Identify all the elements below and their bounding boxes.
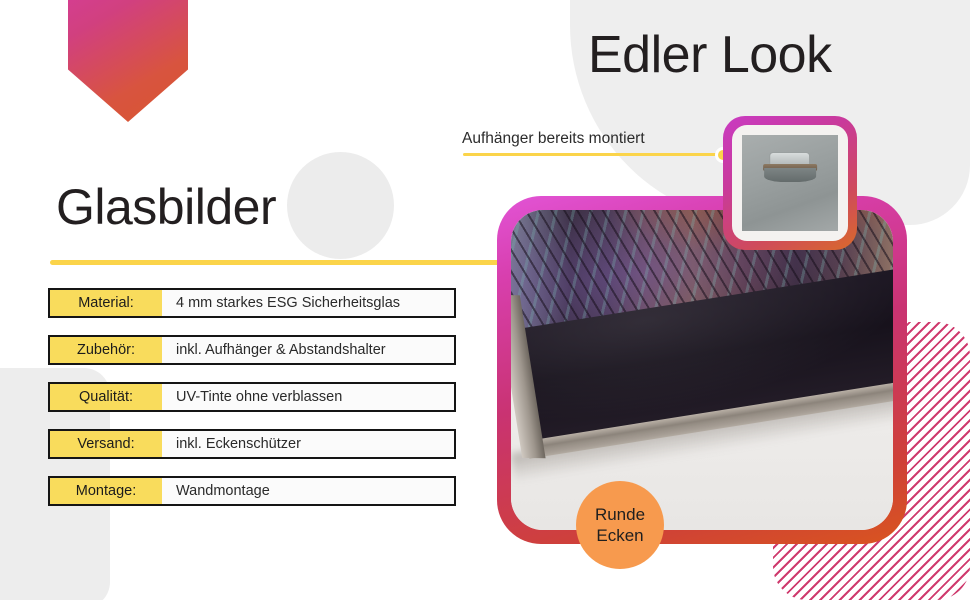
spec-value: inkl. Eckenschützer: [162, 431, 454, 457]
callout-hanger-label: Aufhänger bereits montiert: [462, 130, 645, 148]
spec-label: Qualität:: [50, 384, 162, 410]
table-row: Montage: Wandmontage: [48, 476, 456, 506]
shield-badge-icon: [68, 0, 188, 122]
callout-hanger-line: [463, 153, 721, 156]
spec-label: Zubehör:: [50, 337, 162, 363]
wall-hanger-icon: [763, 152, 817, 181]
product-photo-frame: [497, 196, 907, 544]
table-row: Versand: inkl. Eckenschützer: [48, 429, 456, 459]
spec-label: Montage:: [50, 478, 162, 504]
hanger-top-plate: [770, 152, 811, 165]
product-photo: [511, 210, 893, 530]
status-badge-rounded-corners: Runde Ecken: [576, 481, 664, 569]
hanger-inset-photo: [742, 135, 838, 231]
spec-value: inkl. Aufhänger & Abstandshalter: [162, 337, 454, 363]
spec-label: Material:: [50, 290, 162, 316]
spec-label: Versand:: [50, 431, 162, 457]
page-title-left: Glasbilder: [56, 178, 276, 236]
spec-table: Material: 4 mm starkes ESG Sicherheitsgl…: [48, 288, 456, 523]
poster-canvas: Edler Look Glasbilder Aufhänger bereits …: [0, 0, 970, 600]
badge-label-line1: Runde: [595, 504, 645, 525]
table-row: Qualität: UV-Tinte ohne verblassen: [48, 382, 456, 412]
spec-value: UV-Tinte ohne verblassen: [162, 384, 454, 410]
hanger-bottom-plate: [764, 168, 816, 182]
hanger-inset-matte: [732, 125, 848, 241]
spec-value: 4 mm starkes ESG Sicherheitsglas: [162, 290, 454, 316]
badge-label-line2: Ecken: [596, 525, 643, 546]
page-title-right: Edler Look: [588, 25, 832, 85]
spec-value: Wandmontage: [162, 478, 454, 504]
background-circle-decor: [287, 152, 394, 259]
connector-line-main: [50, 260, 516, 265]
table-row: Material: 4 mm starkes ESG Sicherheitsgl…: [48, 288, 456, 318]
hanger-inset-frame: [723, 116, 857, 250]
table-row: Zubehör: inkl. Aufhänger & Abstandshalte…: [48, 335, 456, 365]
